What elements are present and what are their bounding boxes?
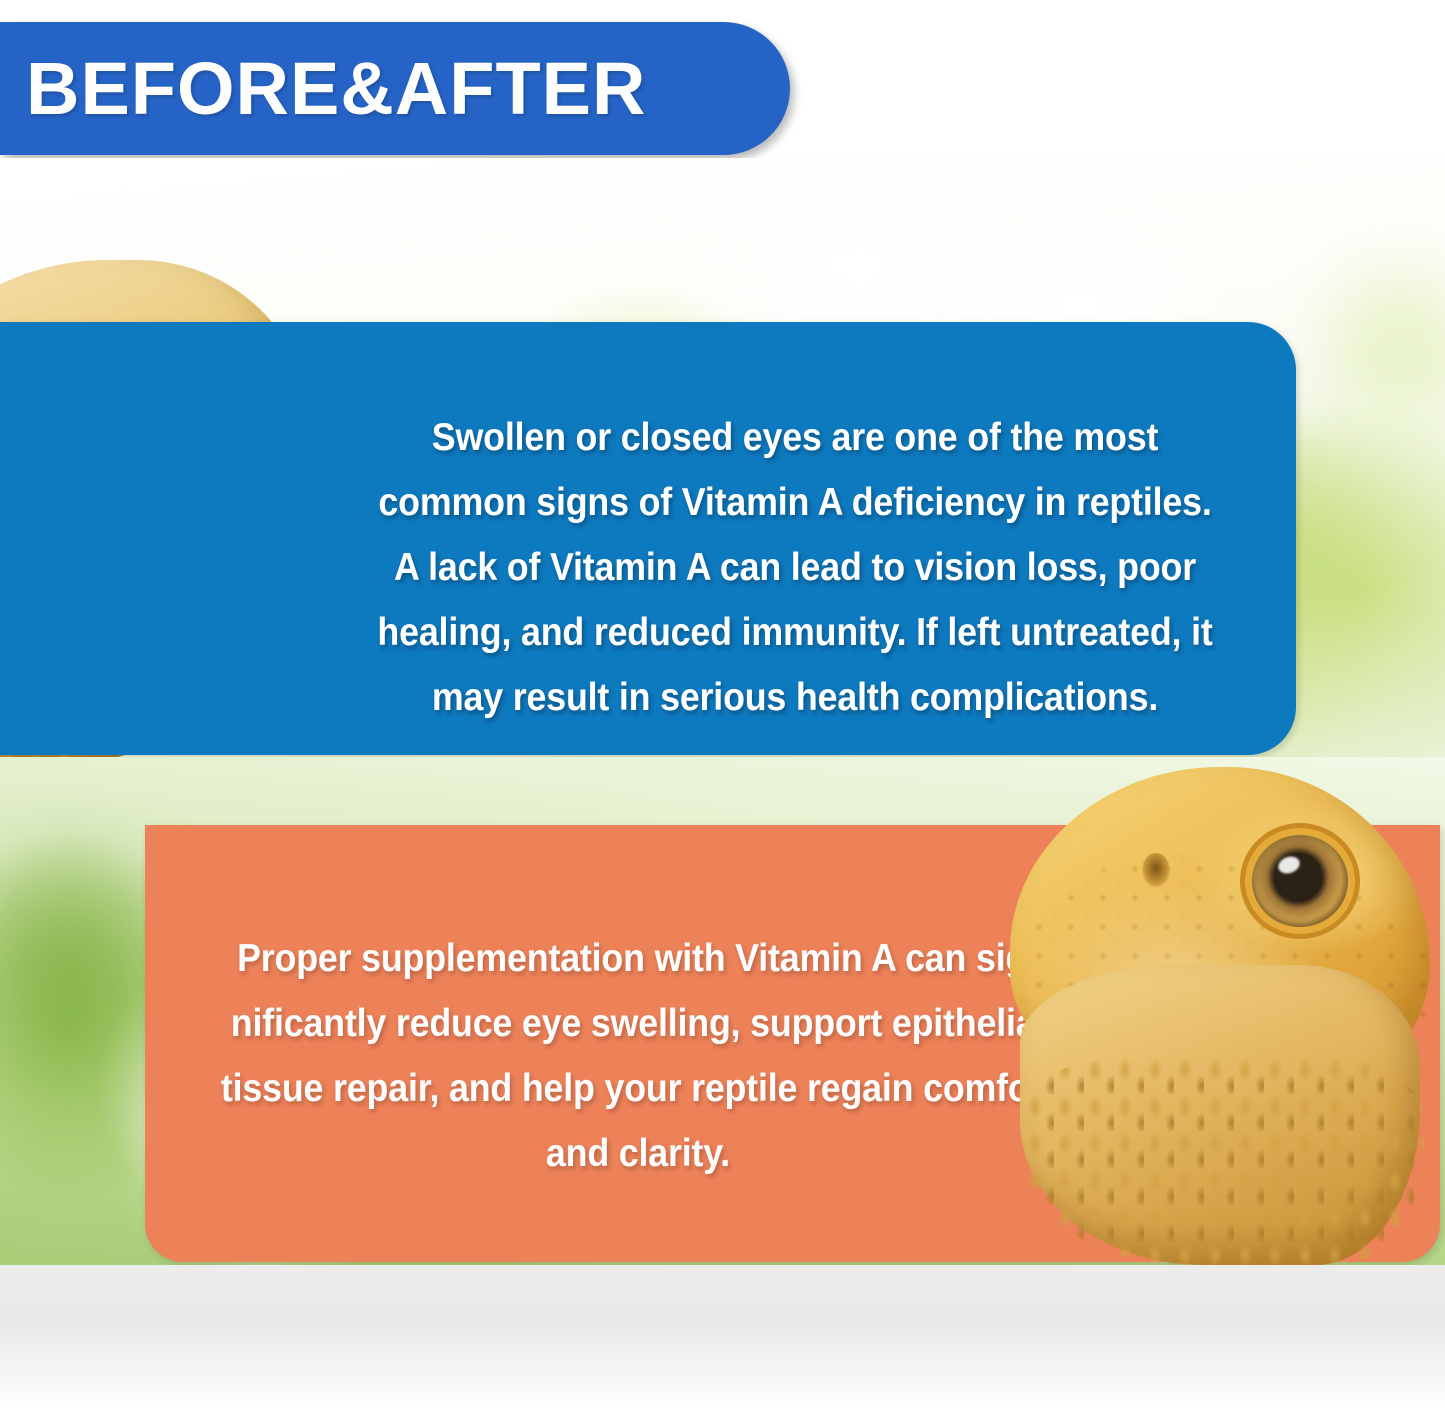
before-section: Swollen or closed eyes are one of the mo… [0, 158, 1445, 757]
before-description: Swollen or closed eyes are one of the mo… [363, 405, 1228, 730]
before-text-panel: Swollen or closed eyes are one of the mo… [0, 322, 1296, 755]
page-title: BEFORE&AFTER [26, 46, 646, 131]
bottom-strip [0, 1265, 1445, 1409]
after-description: Proper supplementation with Vitamin A ca… [206, 926, 1071, 1186]
after-section: Proper supplementation with Vitamin A ca… [0, 757, 1445, 1265]
after-text-panel: Proper supplementation with Vitamin A ca… [145, 825, 1440, 1262]
before-after-banner: BEFORE&AFTER [0, 22, 790, 155]
